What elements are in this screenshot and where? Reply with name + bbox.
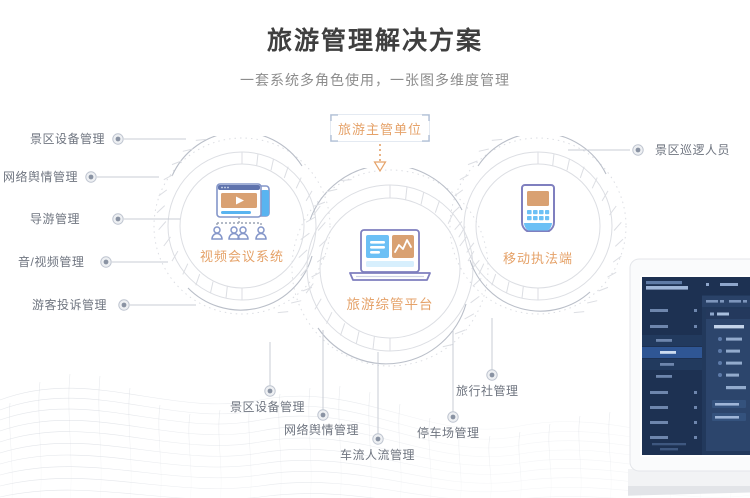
label-right-scenic-patrol[interactable]: 景区巡逻人员 <box>655 144 730 156</box>
laptop-dashboard-icon <box>330 228 450 286</box>
label-left-network-opinion[interactable]: 网络舆情管理 <box>3 171 78 183</box>
node-mobile-enforcement[interactable]: 移动执法端 <box>478 182 598 267</box>
dashboard-screenshot <box>642 277 750 455</box>
label-bottom-scenic-equipment[interactable]: 景区设备管理 <box>230 401 305 413</box>
node-mobile-enforcement-label: 移动执法端 <box>478 248 598 267</box>
page-title: 旅游管理解决方案 <box>0 28 750 56</box>
header: 旅游管理解决方案 一套系统多角色使用，一张图多维度管理 <box>0 0 750 90</box>
laptop-product-mockup <box>628 255 750 498</box>
node-video-conference[interactable]: 视频会议系统 <box>181 180 303 265</box>
label-bottom-travel-agency[interactable]: 旅行社管理 <box>456 385 519 397</box>
infographic-canvas: 旅游管理解决方案 一套系统多角色使用，一张图多维度管理 <box>0 0 750 498</box>
label-left-av-management[interactable]: 音/视频管理 <box>18 256 84 268</box>
label-bottom-traffic-flow[interactable]: 车流人流管理 <box>340 449 415 461</box>
authority-down-arrow-icon <box>368 143 392 173</box>
authority-label: 旅游主管单位 <box>338 119 422 138</box>
node-video-conference-label: 视频会议系统 <box>181 246 303 265</box>
video-conference-icon <box>181 180 303 242</box>
label-bottom-network-opinion[interactable]: 网络舆情管理 <box>284 424 359 436</box>
node-core-platform-label: 旅游综管平台 <box>330 293 450 313</box>
node-core-platform[interactable]: 旅游综管平台 <box>330 228 450 313</box>
label-left-tourist-complaint[interactable]: 游客投诉管理 <box>32 299 107 311</box>
page-subtitle: 一套系统多角色使用，一张图多维度管理 <box>0 70 750 90</box>
label-left-scenic-equipment[interactable]: 景区设备管理 <box>30 133 105 145</box>
mobile-enforcement-icon <box>478 182 598 244</box>
authority-box[interactable]: 旅游主管单位 <box>330 114 430 142</box>
label-left-guide-management[interactable]: 导游管理 <box>30 213 80 225</box>
label-bottom-parking[interactable]: 停车场管理 <box>417 427 480 439</box>
